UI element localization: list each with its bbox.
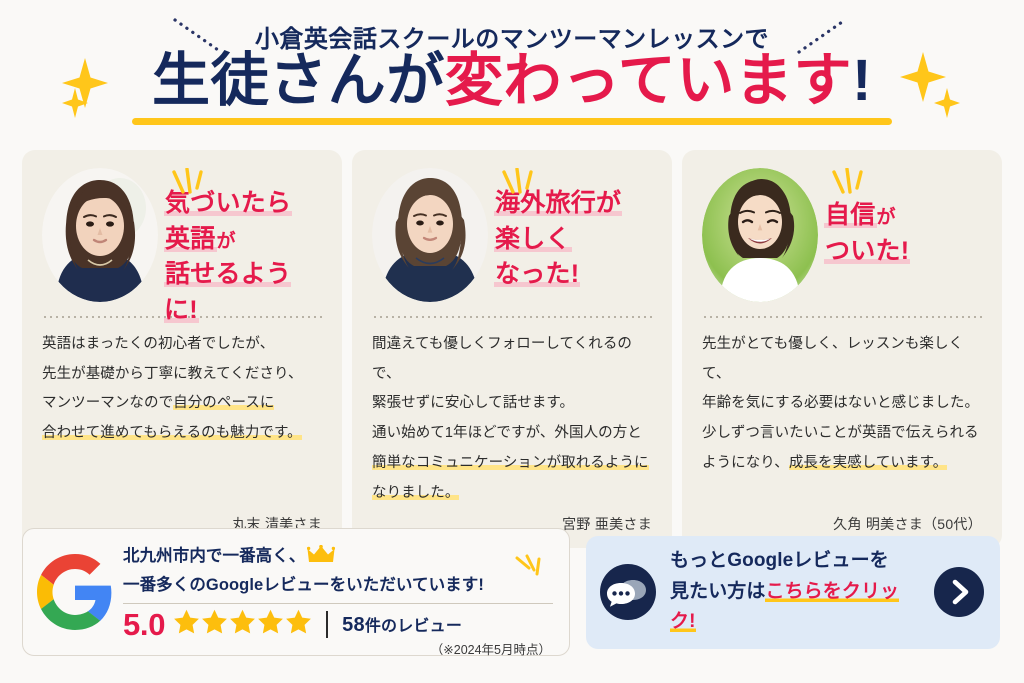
card-body-highlight: 成長を実感しています。	[789, 455, 947, 471]
card-title-line1: 自信	[824, 201, 877, 229]
google-date-note: （※2024年5月時点）	[431, 639, 551, 658]
testimonial-card: 自信が ついた! 先生がとても優しく、レッスンも楽しくて、 年齢を気にする必要は…	[682, 150, 1002, 548]
card-divider	[702, 316, 982, 318]
testimonial-card: 気づいたら 英語が 話せるように! 英語はまったくの初心者でしたが、 先生が基礎…	[22, 150, 342, 548]
burst-lines-icon	[830, 168, 864, 203]
card-body-line: 緊張せずに安心して話せます。	[372, 389, 652, 419]
page-title-part1: 生徒さんが	[152, 48, 445, 113]
card-body-line: マンツーマンなので	[42, 395, 173, 411]
avatar-illustration	[42, 168, 158, 302]
avatar	[702, 168, 818, 302]
divider	[326, 611, 328, 638]
cta-line2-plain: 見たい方は	[670, 581, 765, 602]
card-header: 自信が ついた!	[702, 168, 982, 310]
card-title-line2-suffix: が	[217, 231, 236, 252]
google-headline-line2: 一番多くのGoogleレビューをいただいています!	[123, 573, 553, 599]
card-divider	[372, 316, 652, 318]
avatar-illustration	[702, 168, 818, 302]
star-icon	[257, 608, 284, 640]
chevron-right-icon[interactable]	[934, 567, 984, 617]
page-header: 小倉英会話スクールのマンツーマンレッスンで 生徒さんが変わっています!	[0, 0, 1024, 148]
card-title-line3: 話せるように!	[164, 260, 291, 324]
star-rating	[173, 608, 312, 640]
crown-icon	[307, 545, 335, 573]
card-body-highlight: なりました。	[372, 485, 459, 501]
card-body-line: ようになり、	[702, 455, 789, 471]
google-score-row: 5.0 58件のレビュー	[123, 608, 553, 640]
bottom-row: 北九州市内で一番高く、 一番多くのGoogleレビューをいただいています! 5.…	[22, 528, 1002, 656]
burst-lines-icon	[500, 168, 534, 203]
google-g-logo-icon	[37, 554, 113, 630]
burst-lines-icon	[170, 168, 204, 203]
divider	[123, 603, 553, 604]
star-icon	[229, 608, 256, 640]
card-title-line2-highlight: 楽しく	[494, 225, 572, 253]
testimonial-card: 海外旅行が 楽しく なった! 間違えても優しくフォローしてくれるので、 緊張せず…	[352, 150, 672, 548]
google-score: 5.0	[123, 609, 165, 640]
card-title: 気づいたら 英語が 話せるように!	[164, 186, 322, 328]
card-body: 間違えても優しくフォローしてくれるので、 緊張せずに安心して話せます。 通い始め…	[372, 330, 652, 508]
card-title-area: 自信が ついた!	[824, 168, 982, 269]
card-body: 先生がとても優しく、レッスンも楽しくて、 年齢を気にする必要はないと感じました。…	[702, 330, 982, 508]
card-header: 気づいたら 英語が 話せるように!	[42, 168, 322, 310]
card-body-line: 英語はまったくの初心者でしたが、	[42, 330, 322, 360]
google-reviews-cta-button[interactable]: もっとGoogleレビューを 見たい方はこちらをクリック!	[586, 536, 1000, 649]
card-body-line: 間違えても優しくフォローしてくれるので、	[372, 330, 652, 389]
star-icon	[173, 608, 200, 640]
google-rating-content: 北九州市内で一番高く、 一番多くのGoogleレビューをいただいています! 5.…	[123, 544, 553, 640]
card-title-line2-highlight: 英語	[164, 225, 217, 253]
google-headline-line1: 北九州市内で一番高く、	[123, 547, 305, 565]
cta-line1: もっとGoogleレビューを	[670, 546, 920, 577]
card-body-highlight: 自分のペースに	[173, 395, 274, 411]
page-title-part2: !	[852, 48, 872, 113]
page-title-accent: 変わっています	[445, 48, 852, 113]
card-body-highlight: 合わせて進めてもらえるのも魅力です。	[42, 425, 302, 441]
cta-text: もっとGoogleレビューを 見たい方はこちらをクリック!	[670, 546, 920, 638]
card-title-line1-suffix: が	[877, 207, 896, 228]
review-count-number: 58	[342, 614, 365, 636]
avatar	[42, 168, 158, 302]
testimonials-page: 小倉英会話スクールのマンツーマンレッスンで 生徒さんが変わっています!	[0, 0, 1024, 683]
testimonial-cards: 気づいたら 英語が 話せるように! 英語はまったくの初心者でしたが、 先生が基礎…	[22, 150, 1002, 548]
avatar-illustration	[372, 168, 488, 302]
card-body-line: 先生がとても優しく、レッスンも楽しくて、	[702, 330, 982, 389]
review-count-unit: 件のレビュー	[365, 618, 462, 635]
card-body-line: 年齢を気にする必要はないと感じました。	[702, 389, 982, 419]
avatar	[372, 168, 488, 302]
burst-lines-icon	[513, 554, 547, 593]
google-headline: 北九州市内で一番高く、 一番多くのGoogleレビューをいただいています!	[123, 544, 553, 598]
card-body-line: 通い始めて1年ほどですが、外国人の方と	[372, 419, 652, 449]
card-header: 海外旅行が 楽しく なった!	[372, 168, 652, 310]
chat-bubbles-icon	[600, 564, 656, 620]
google-review-count: 58件のレビュー	[342, 612, 462, 637]
card-title-line3: ついた!	[824, 237, 910, 265]
card-body-line: 先生が基礎から丁寧に教えてくださり、	[42, 360, 322, 390]
page-title: 生徒さんが変わっています!	[0, 52, 1024, 110]
card-title-line3: なった!	[494, 260, 580, 288]
title-underline	[132, 118, 892, 125]
card-title-area: 気づいたら 英語が 話せるように!	[164, 168, 322, 328]
star-icon	[285, 608, 312, 640]
card-body: 英語はまったくの初心者でしたが、 先生が基礎から丁寧に教えてくださり、 マンツー…	[42, 330, 322, 508]
card-title-area: 海外旅行が 楽しく なった!	[494, 168, 652, 293]
card-body-line: 少しずつ言いたいことが英語で伝えられる	[702, 419, 982, 449]
google-rating-box: 北九州市内で一番高く、 一番多くのGoogleレビューをいただいています! 5.…	[22, 528, 570, 656]
card-body-highlight: 簡単なコミュニケーションが取れるように	[372, 455, 649, 471]
star-icon	[201, 608, 228, 640]
